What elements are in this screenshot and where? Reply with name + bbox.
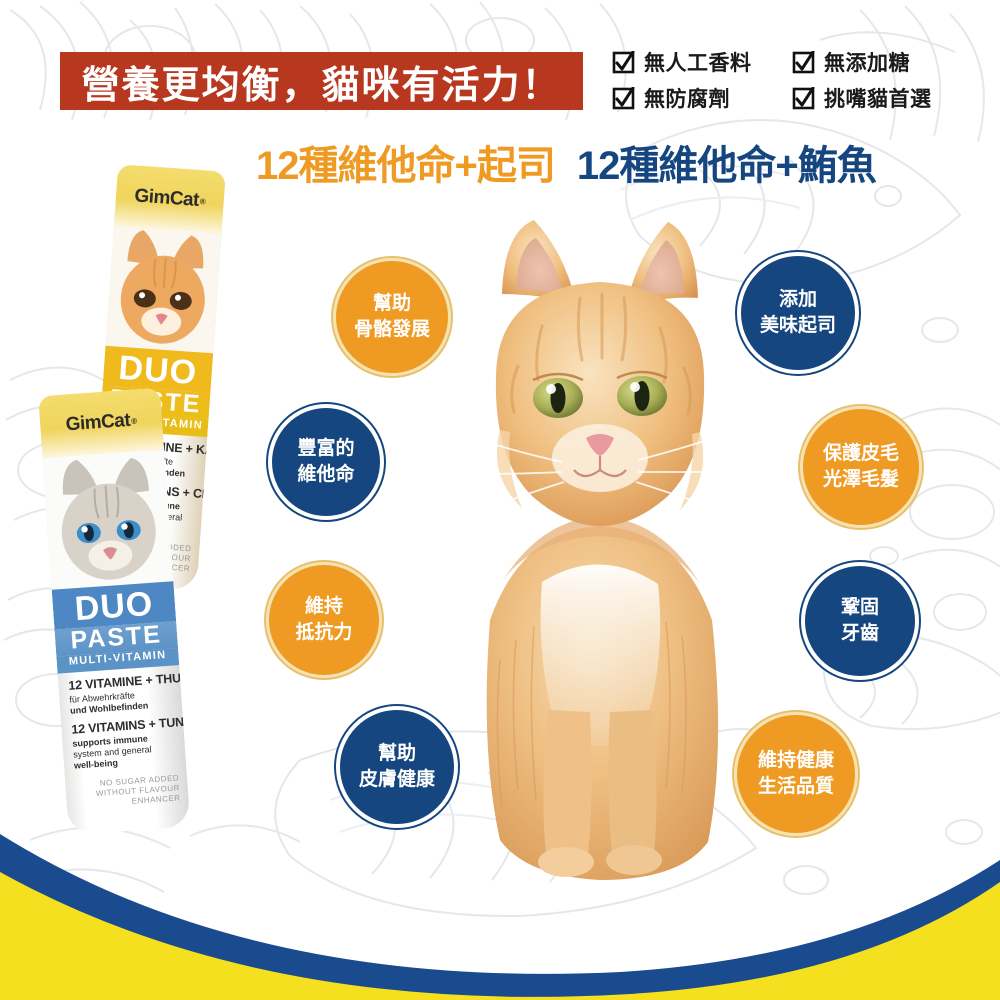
bubble-line-1: 維持 [305,594,343,620]
brand-logo-gimcat: GimCat® [65,409,137,436]
bubble-line-2: 骨骼發展 [354,317,430,343]
brand-band-tuna: GimCat® [38,388,164,458]
bubble-line-1: 維持健康 [758,748,834,774]
checklist-item-picky-cat-choice: 挑嘴貓首選 [792,83,982,113]
bubble-line-1: 幫助 [378,741,416,767]
orange-tabby-cat-photo [430,190,770,890]
bubble-strong-teeth: 鞏固 牙齒 [801,562,919,680]
checkbox-checked-icon [792,51,815,74]
checkbox-checked-icon [612,87,635,110]
bubble-skin-health: 幫助 皮膚健康 [336,706,458,828]
tube-description-tuna: 12 VITAMINE + THUNFISCH für Abwehrkräfte… [58,665,189,811]
bubble-line-1: 豐富的 [297,436,354,462]
bubble-line-1: 添加 [779,287,817,313]
checklist-item-no-artificial-flavour: 無人工香料 [612,47,792,77]
bubble-quality-of-life: 維持健康 生活品質 [734,712,858,836]
checklist-label: 無防腐劑 [644,83,730,113]
bubble-line-2: 生活品質 [758,774,834,800]
brand-logo-gimcat: GimCat® [134,185,206,212]
bubble-line-1: 保護皮毛 [823,441,899,467]
headline-text: 營養更均衡，貓咪有活力！ [81,54,561,109]
tube-footer-tuna: NO SUGAR ADDED WITHOUT FLAVOUR ENHANCER [74,765,180,810]
bubble-coat-shine: 保護皮毛 光澤毛髮 [800,406,922,528]
bubble-line-2: 光澤毛髮 [823,467,899,493]
checkbox-checked-icon [792,87,815,110]
bubble-line-2: 皮膚健康 [359,767,435,793]
checkbox-checked-icon [612,51,635,74]
bubble-line-2: 牙齒 [841,621,879,647]
checklist-item-no-preservatives: 無防腐劑 [612,83,792,113]
checklist-item-no-added-sugar: 無添加糖 [792,47,982,77]
bubble-rich-vitamins: 豐富的 維他命 [268,404,384,520]
tube-cat-photo-ginger [105,226,221,353]
bubble-line-2: 美味起司 [760,313,836,339]
registered-mark: ® [131,416,137,425]
bubble-immunity: 維持 抵抗力 [266,562,382,678]
brand-band-cheese: GimCat® [114,164,226,233]
tube-cat-photo-silver [42,450,173,590]
headline-banner: 營養更均衡，貓咪有活力！ [60,52,583,110]
advertisement-page: 營養更均衡，貓咪有活力！ 無人工香料 無添加糖 [0,0,1000,1000]
bubble-tasty-cheese: 添加 美味起司 [737,252,859,374]
title-cheese-variant: 12種維他命+起司 [256,133,555,191]
registered-mark: ® [200,197,206,206]
checklist-label: 挑嘴貓首選 [824,83,932,113]
bubble-line-2: 維他命 [297,462,354,488]
feature-checklist: 無人工香料 無添加糖 無防腐劑 [612,44,992,116]
bubble-line-1: 幫助 [373,291,411,317]
checklist-label: 無人工香料 [644,47,752,77]
bubble-line-2: 抵抗力 [295,620,352,646]
bubble-bone-development: 幫助 骨骼發展 [333,258,451,376]
bubble-line-1: 鞏固 [841,595,879,621]
product-variant-titles: 12種維他命+起司 12種維他命+鮪魚 [256,138,976,186]
title-tuna-variant: 12種維他命+鮪魚 [577,133,876,191]
checklist-label: 無添加糖 [824,47,910,77]
